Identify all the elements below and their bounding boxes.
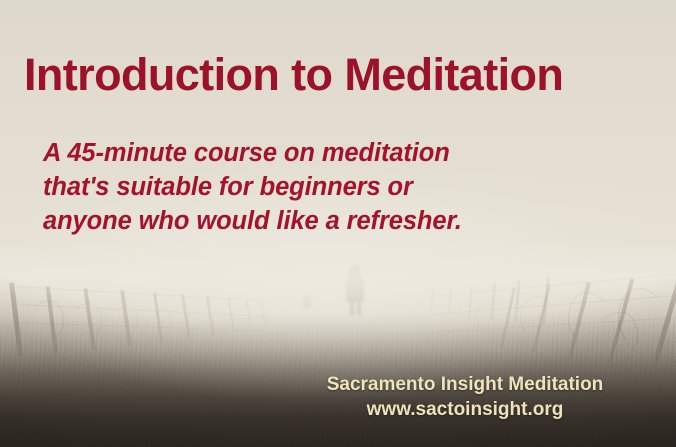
course-description: A 45-minute course on meditation that's … (43, 136, 643, 238)
text-content-area: Introduction to Meditation A 45-minute c… (0, 0, 676, 447)
course-description-line-1: A 45-minute course on meditation (43, 136, 643, 170)
course-description-line-2: that's suitable for beginners or (43, 170, 643, 204)
organization-footer: Sacramento Insight Meditation www.sactoi… (290, 372, 640, 422)
organization-website[interactable]: www.sactoinsight.org (290, 397, 640, 422)
meditation-course-promo-card: Introduction to Meditation A 45-minute c… (0, 0, 676, 447)
course-description-line-3: anyone who would like a refresher. (43, 204, 643, 238)
organization-name: Sacramento Insight Meditation (290, 372, 640, 397)
page-title: Introduction to Meditation (24, 52, 664, 97)
